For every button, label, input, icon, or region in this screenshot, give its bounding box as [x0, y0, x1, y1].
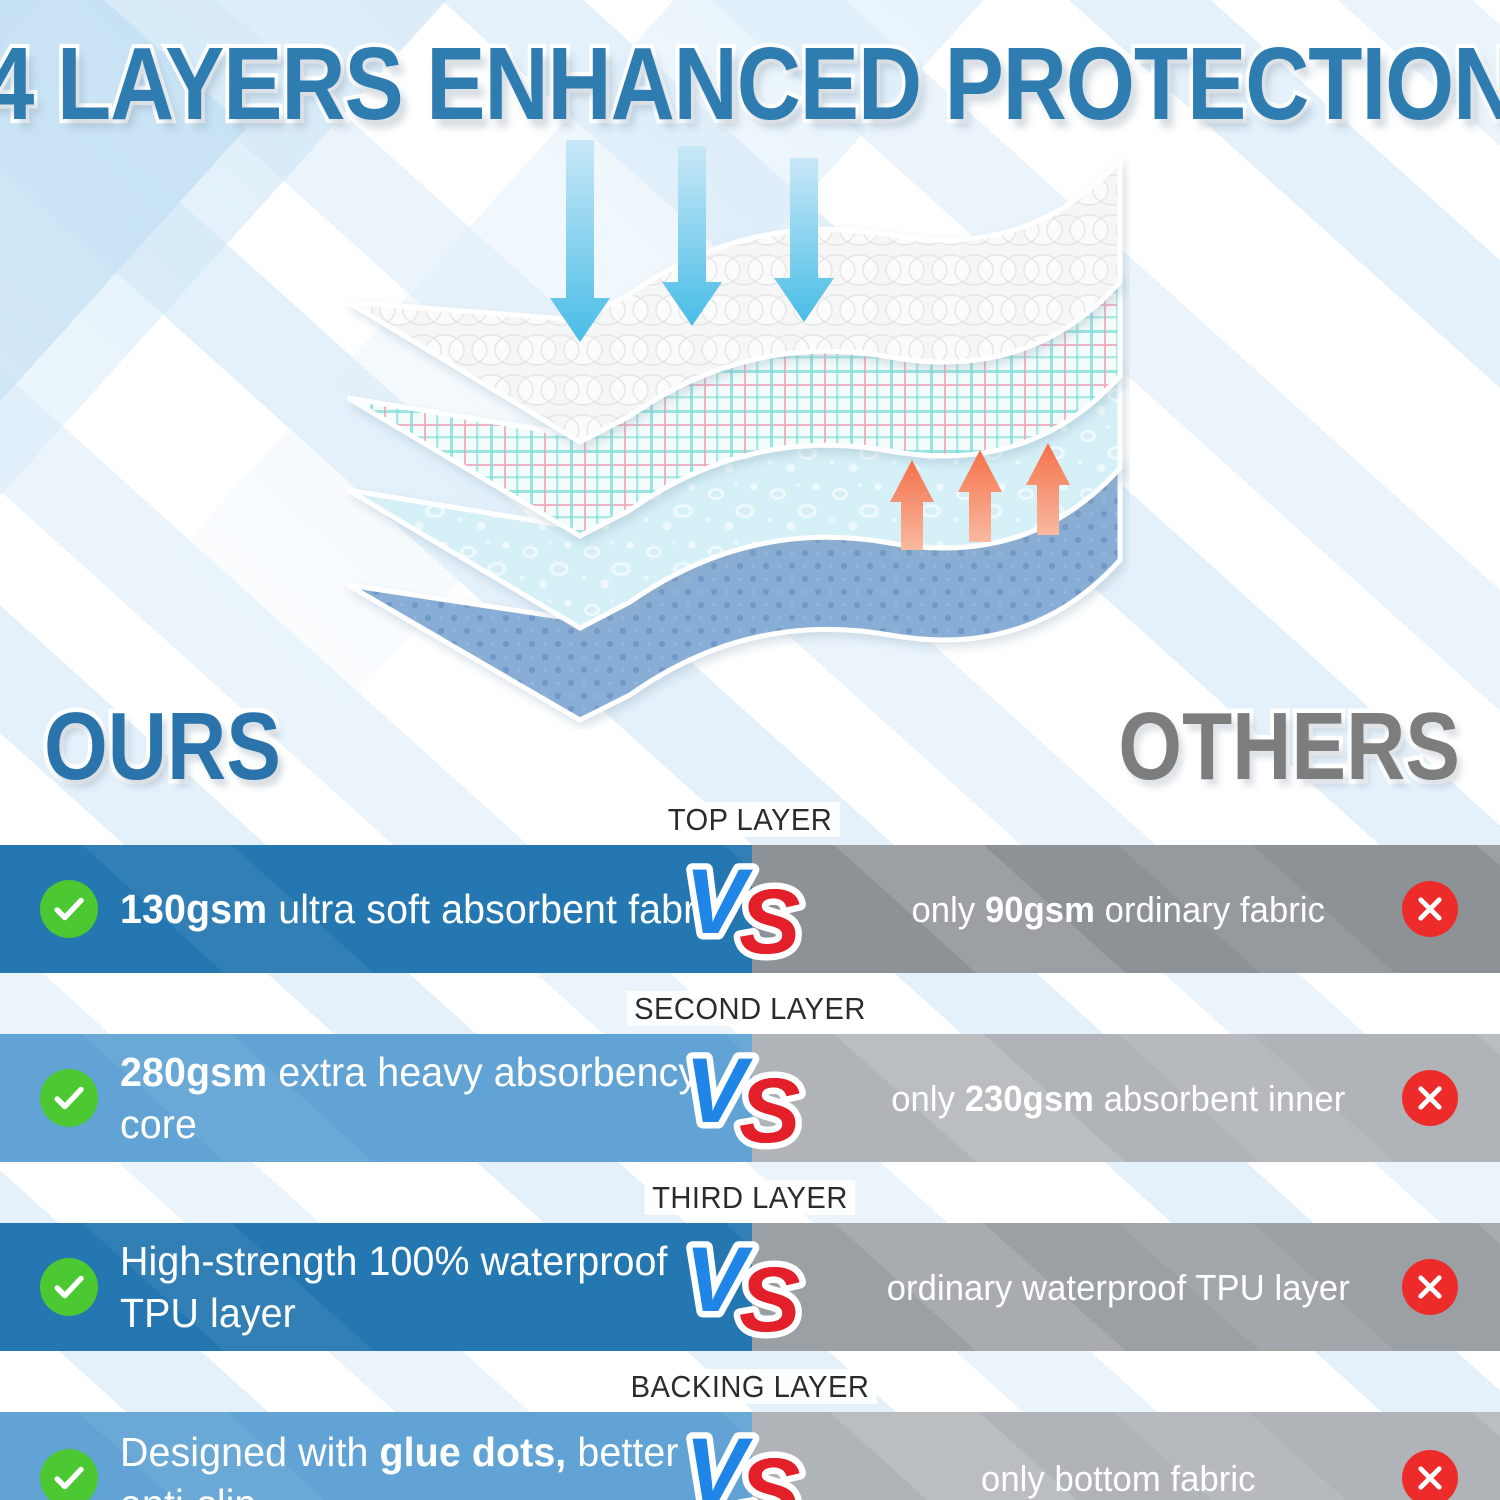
- x-circle-icon: [1402, 1259, 1458, 1315]
- ours-feature-text: Designed with glue dots, better anti-sli…: [120, 1426, 727, 1500]
- table-row: Designed with glue dots, better anti-sli…: [0, 1412, 1500, 1500]
- x-circle-icon: [1402, 1450, 1458, 1500]
- others-feature-pre: only: [911, 889, 984, 930]
- layer-label-second: SECOND LAYER: [45, 991, 1455, 1027]
- layer-label-band: THIRD LAYER: [0, 1178, 1500, 1223]
- ours-feature-text: High-strength 100% waterproof TPU layer: [120, 1235, 727, 1340]
- vs-badge-icon: V V S S: [677, 1231, 827, 1343]
- svg-text:S: S: [739, 1440, 800, 1500]
- check-circle-icon: [40, 880, 98, 938]
- check-circle-icon: [40, 1449, 98, 1500]
- others-cell: only 230gsm absorbent inner: [752, 1034, 1500, 1162]
- ours-feature-pre: Designed with: [120, 1429, 380, 1475]
- others-feature-rest: ordinary fabric: [1095, 889, 1325, 930]
- row-spacer: [0, 973, 1500, 989]
- comparison-table: TOP LAYER 130gsm ultra soft absorbent fa…: [0, 800, 1500, 1500]
- layer-label-band: TOP LAYER: [0, 800, 1500, 845]
- ours-feature-rest: ultra soft absorbent fabric: [267, 886, 725, 932]
- layer-label-band: BACKING LAYER: [0, 1367, 1500, 1412]
- ours-cell: 130gsm ultra soft absorbent fabric: [0, 845, 752, 973]
- ours-feature-text: 280gsm extra heavy absorbency core: [120, 1046, 727, 1151]
- others-feature-rest: absorbent inner: [1094, 1078, 1345, 1119]
- ours-feature-highlight: 130gsm: [120, 886, 267, 932]
- svg-text:S: S: [739, 1249, 800, 1343]
- row-spacer: [0, 1351, 1500, 1367]
- others-feature-highlight: 90gsm: [985, 889, 1095, 930]
- page-title: 4 LAYERS ENHANCED PROTECTION: [0, 26, 1500, 144]
- table-row: 280gsm extra heavy absorbency core only …: [0, 1034, 1500, 1162]
- others-cell: ordinary waterproof TPU layer: [752, 1223, 1500, 1351]
- table-row: 130gsm ultra soft absorbent fabric only …: [0, 845, 1500, 973]
- ours-feature-highlight: 280gsm: [120, 1049, 267, 1095]
- others-column-label: OTHERS: [1118, 693, 1460, 802]
- x-circle-icon: [1402, 1070, 1458, 1126]
- table-row: High-strength 100% waterproof TPU layer …: [0, 1223, 1500, 1351]
- layer-label-third: THIRD LAYER: [45, 1180, 1455, 1216]
- layer-label-backing: BACKING LAYER: [45, 1369, 1455, 1405]
- layer-label-top: TOP LAYER: [45, 802, 1455, 838]
- ours-feature-text: 130gsm ultra soft absorbent fabric: [120, 883, 725, 935]
- ours-cell: Designed with glue dots, better anti-sli…: [0, 1412, 752, 1500]
- vs-badge-icon: V V S S: [677, 1422, 827, 1500]
- others-feature-text: ordinary waterproof TPU layer: [765, 1265, 1389, 1310]
- layer-label-band: SECOND LAYER: [0, 989, 1500, 1034]
- vs-badge-icon: V V S S: [677, 1042, 827, 1154]
- row-spacer: [0, 1162, 1500, 1178]
- check-circle-icon: [40, 1069, 98, 1127]
- others-feature-text: only bottom fabric: [765, 1456, 1389, 1500]
- ours-column-label: OURS: [44, 693, 281, 802]
- others-feature-highlight: 230gsm: [965, 1078, 1094, 1119]
- ours-cell: 280gsm extra heavy absorbency core: [0, 1034, 752, 1162]
- others-cell: only 90gsm ordinary fabric: [752, 845, 1500, 973]
- four-layer-fabric-diagram: [330, 130, 1130, 730]
- x-circle-icon: [1402, 881, 1458, 937]
- ours-cell: High-strength 100% waterproof TPU layer: [0, 1223, 752, 1351]
- ours-feature-highlight: glue dots,: [380, 1429, 567, 1475]
- others-feature-text: only 90gsm ordinary fabric: [765, 887, 1389, 932]
- vs-badge-icon: V V S S: [677, 853, 827, 965]
- check-circle-icon: [40, 1258, 98, 1316]
- others-cell: only bottom fabric: [752, 1412, 1500, 1500]
- others-feature-text: only 230gsm absorbent inner: [765, 1076, 1389, 1121]
- others-feature-pre: only: [891, 1078, 964, 1119]
- svg-text:S: S: [739, 871, 800, 965]
- infographic-page: 4 LAYERS ENHANCED PROTECTION: [0, 0, 1500, 1500]
- svg-text:S: S: [739, 1060, 800, 1154]
